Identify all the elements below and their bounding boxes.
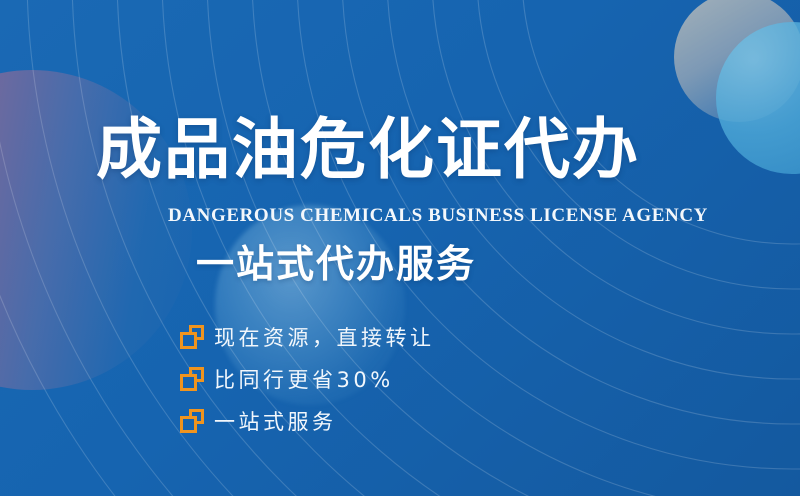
feature-list: 现在资源，直接转让 比同行更省30% 一站式服务	[180, 318, 435, 444]
list-item-label: 一站式服务	[214, 406, 337, 436]
overlapping-squares-icon	[180, 409, 204, 433]
list-item-label: 比同行更省30%	[214, 364, 394, 394]
list-item-label: 现在资源，直接转让	[214, 322, 435, 352]
english-subtitle: DANGEROUS CHEMICALS BUSINESS LICENSE AGE…	[168, 205, 708, 227]
list-item: 比同行更省30%	[180, 360, 435, 398]
promotional-banner: 成品油危化证代办 DANGEROUS CHEMICALS BUSINESS LI…	[0, 0, 800, 496]
list-item: 现在资源，直接转让	[180, 318, 435, 356]
service-headline: 一站式代办服务	[196, 245, 476, 283]
overlapping-squares-icon	[180, 367, 204, 391]
banner-content: 成品油危化证代办 DANGEROUS CHEMICALS BUSINESS LI…	[0, 0, 800, 496]
overlapping-squares-icon	[180, 325, 204, 349]
list-item: 一站式服务	[180, 402, 435, 440]
page-title: 成品油危化证代办	[96, 117, 640, 183]
